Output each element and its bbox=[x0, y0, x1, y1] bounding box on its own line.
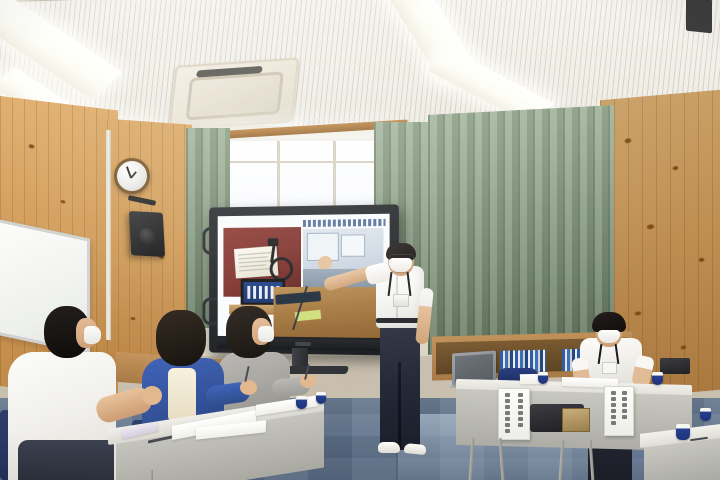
presenter-legs bbox=[380, 318, 420, 450]
amplifier-unit bbox=[562, 408, 590, 432]
presenter-shoe bbox=[404, 443, 427, 455]
right-attendee-hair bbox=[592, 312, 626, 332]
paper-cup bbox=[700, 408, 711, 421]
name-placard bbox=[498, 388, 530, 440]
attendee-blue-cardigan-head bbox=[156, 310, 206, 366]
paper-cup bbox=[316, 392, 326, 404]
slide-floor-object bbox=[275, 291, 321, 305]
paper-cup bbox=[296, 396, 307, 409]
display-logo bbox=[295, 342, 311, 346]
attendee-blouse bbox=[168, 368, 196, 422]
slide-title-text bbox=[303, 219, 386, 227]
slide-classroom-window bbox=[341, 234, 365, 256]
classroom-photo bbox=[0, 0, 720, 480]
wall-clock-icon bbox=[114, 158, 150, 194]
attendee-white-polo-lap bbox=[18, 440, 114, 480]
slide-camera-cable bbox=[270, 257, 293, 281]
paper-cup bbox=[676, 424, 690, 440]
slide-photo-floor-workspace bbox=[274, 287, 386, 338]
slide-camera-head bbox=[268, 238, 279, 246]
speaker-cone bbox=[139, 228, 156, 245]
projector-mount-icon bbox=[686, 0, 712, 33]
curtain-panel bbox=[428, 105, 614, 355]
paper-cup bbox=[538, 372, 548, 384]
id-badge bbox=[393, 294, 409, 307]
presenter-leg-seam bbox=[398, 362, 401, 448]
face-mask-icon bbox=[389, 258, 412, 272]
black-equipment-box bbox=[660, 358, 690, 374]
presenter-shoe bbox=[378, 442, 400, 453]
display-handle bbox=[203, 227, 217, 255]
wall-speaker-icon bbox=[129, 211, 165, 257]
face-mask-icon bbox=[258, 326, 274, 342]
id-badge bbox=[602, 362, 617, 374]
face-mask-icon bbox=[84, 326, 101, 344]
paper-cup bbox=[652, 372, 663, 385]
attendee-blue-cardigan-hand bbox=[240, 380, 257, 395]
wall-conduit bbox=[106, 130, 111, 340]
display-handle bbox=[203, 298, 217, 326]
attendee-white-polo-hand bbox=[142, 386, 162, 405]
name-placard bbox=[604, 386, 634, 436]
ceiling-ac-unit bbox=[169, 57, 299, 130]
attendee-gray-top-hand bbox=[300, 374, 316, 388]
laptop-screen bbox=[455, 354, 493, 383]
clock-minute-hand bbox=[126, 166, 132, 178]
ac-unit-inner-panel bbox=[186, 71, 284, 120]
